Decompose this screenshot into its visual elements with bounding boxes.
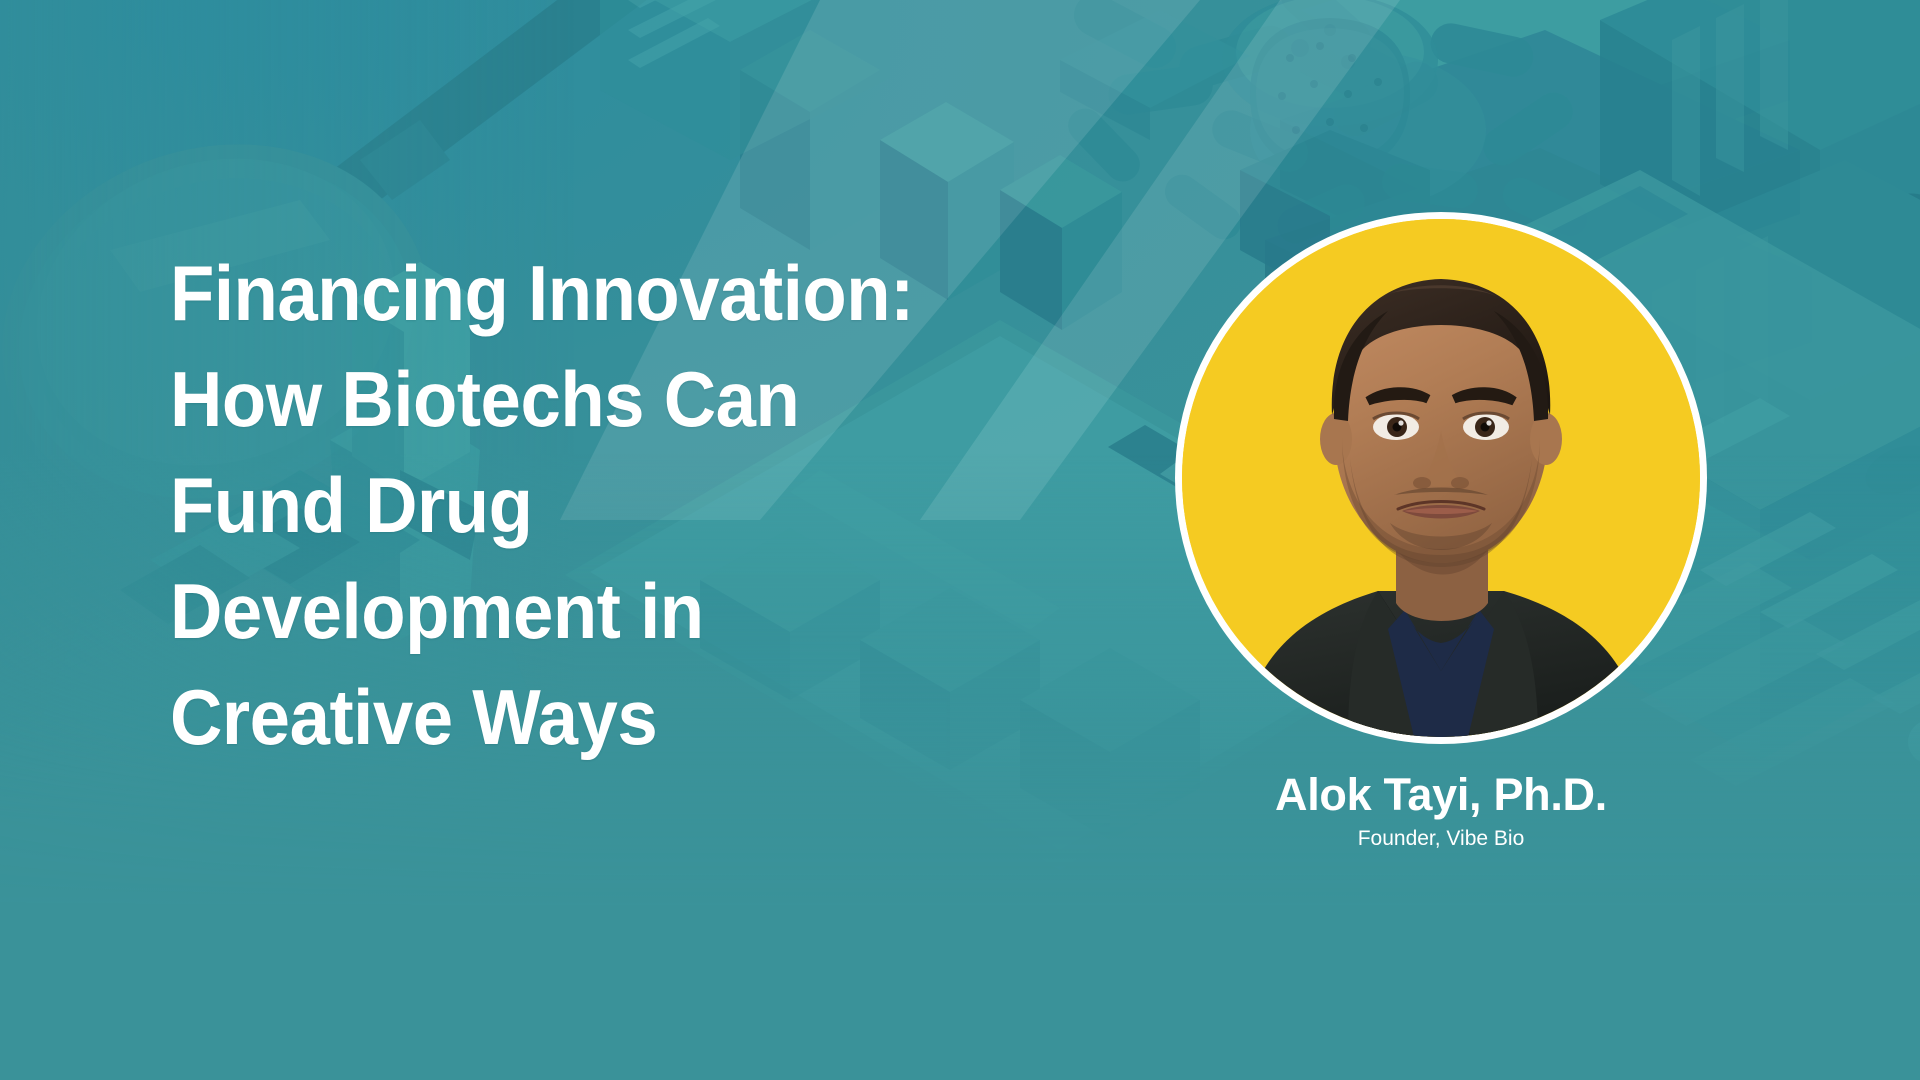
title-line-2: How Biotechs Can [170,346,1007,452]
title-line-5: Creative Ways [170,664,1007,770]
webinar-title-slide: Financing Innovation: How Biotechs Can F… [0,0,1920,1080]
speaker-name: Alok Tayi, Ph.D. [1065,768,1817,822]
speaker-role: Founder, Vibe Bio [1065,826,1817,852]
speaker-block: Alok Tayi, Ph.D. Founder, Vibe Bio [1175,212,1707,744]
avatar [1175,212,1707,744]
speaker-portrait-photo [1182,219,1700,737]
title-line-1: Financing Innovation: [170,240,1007,346]
title-line-4: Development in [170,558,1007,664]
title-line-3: Fund Drug [170,452,1007,558]
avatar-yellow-disc [1182,219,1700,737]
page-title: Financing Innovation: How Biotechs Can F… [170,240,1070,770]
